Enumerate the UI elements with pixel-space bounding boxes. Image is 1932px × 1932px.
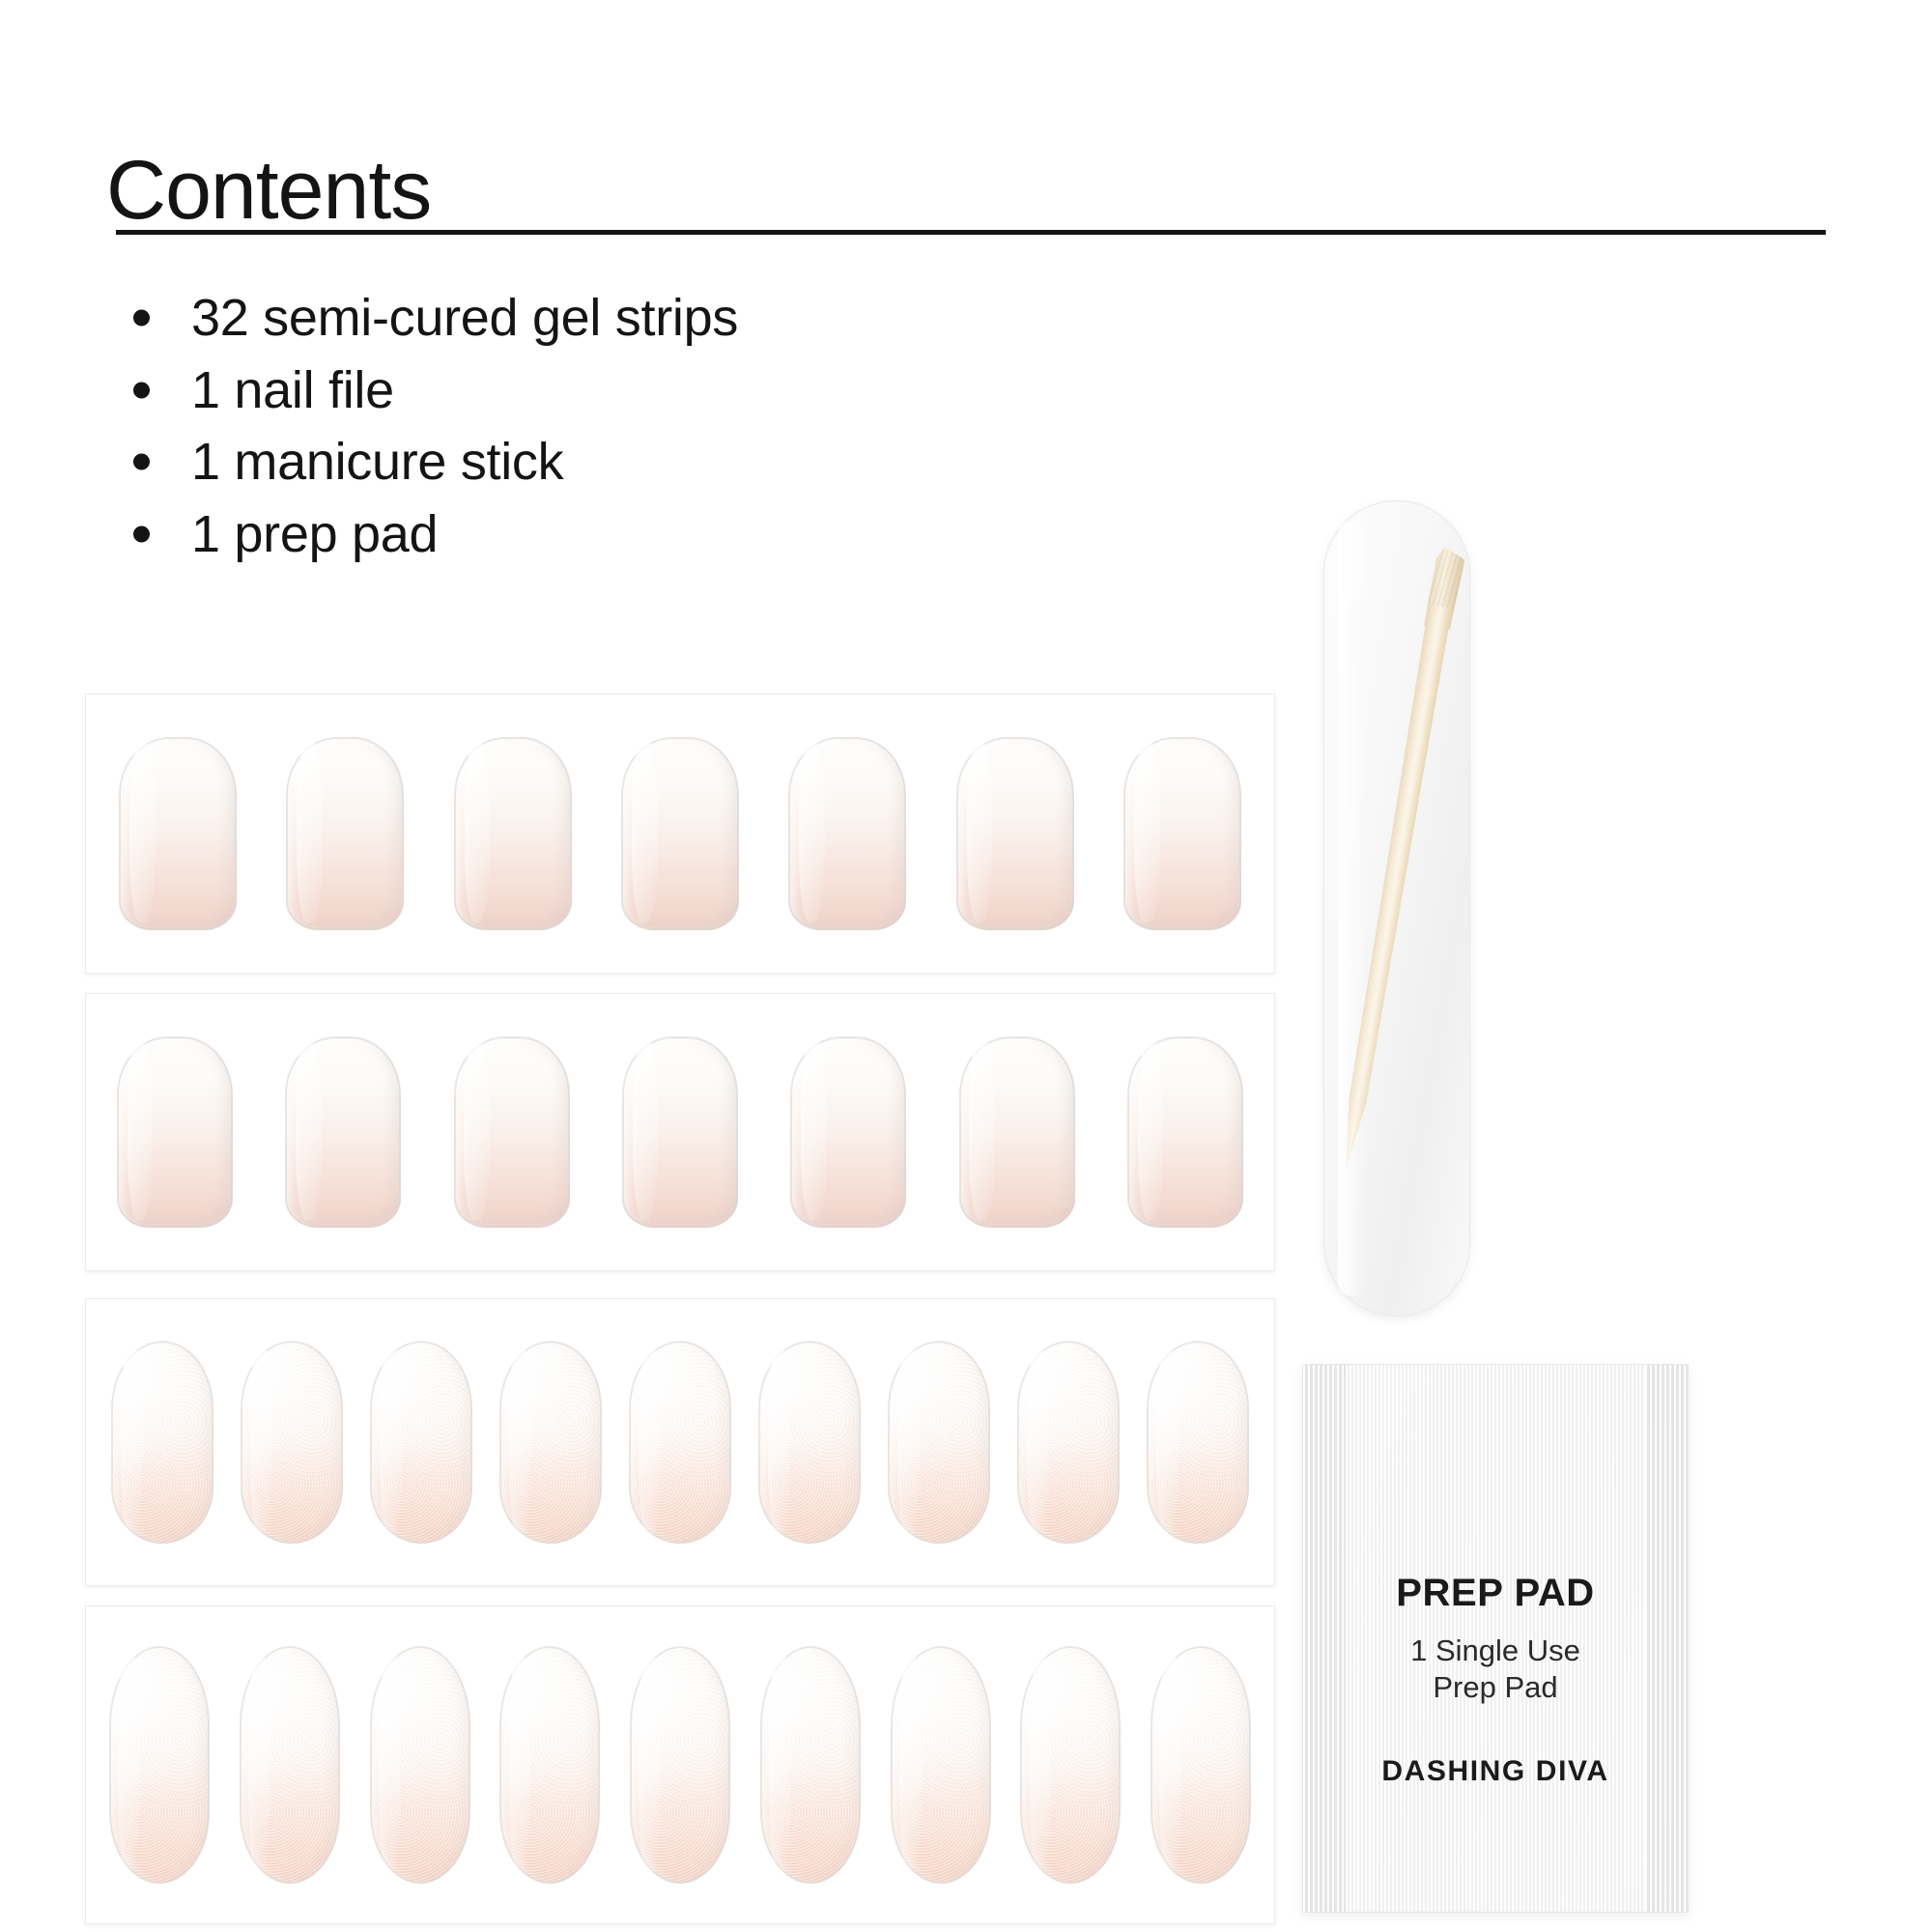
gel-nail-strip: [1147, 1341, 1249, 1544]
nail-highlight: [129, 741, 156, 923]
prep-pad-subtitle-line1: 1 Single Use: [1410, 1633, 1580, 1669]
nail-highlight: [768, 1345, 790, 1535]
gel-nail-strip: [629, 1341, 731, 1544]
list-item: 1 prep pad: [116, 498, 1275, 571]
bullet-icon: [133, 310, 150, 327]
nail-edge: [956, 737, 1074, 930]
prep-pad-sachet: PREP PAD 1 Single Use Prep Pad DASHING D…: [1302, 1364, 1689, 1913]
gel-strip-sheet-3: [85, 1298, 1275, 1586]
gel-strip-sheet-1: [85, 694, 1275, 974]
gel-strip-sheet-2-inner: [86, 994, 1274, 1270]
page-title: Contents: [106, 149, 431, 232]
nail-edge: [1127, 1037, 1243, 1228]
nail-highlight: [1030, 1651, 1052, 1874]
gel-nail-strip: [454, 1037, 570, 1228]
gel-nail-strip: [241, 1341, 343, 1544]
nail-edge: [499, 1646, 600, 1884]
nail-edge: [621, 737, 739, 930]
gel-nail-strip: [758, 1341, 861, 1544]
nail-edge: [758, 1341, 861, 1544]
nail-highlight: [633, 1040, 658, 1220]
nail-edge: [891, 1646, 991, 1884]
nail-edge: [286, 737, 404, 930]
nail-edge: [959, 1037, 1075, 1228]
gel-nail-strip: [285, 1037, 401, 1228]
nail-edge: [111, 1341, 213, 1544]
gel-nail-strip: [891, 1646, 991, 1884]
nail-highlight: [897, 1345, 920, 1535]
gel-nail-strip: [117, 1037, 233, 1228]
sachet-left-seal: [1303, 1365, 1346, 1912]
gel-nail-strip: [370, 1646, 470, 1884]
gel-nail-strip: [1151, 1646, 1251, 1884]
nail-highlight: [509, 1345, 531, 1535]
nail-edge: [1123, 737, 1241, 930]
sachet-right-seal: [1645, 1365, 1688, 1912]
gel-strip-sheet-4-inner: [86, 1606, 1274, 1923]
nail-highlight: [297, 741, 323, 923]
bullet-icon: [133, 526, 150, 542]
nail-highlight: [1138, 1040, 1163, 1220]
gel-nail-strip: [760, 1646, 861, 1884]
gel-nail-strip: [499, 1646, 600, 1884]
nail-edge: [454, 1037, 570, 1228]
nail-edge: [370, 1341, 472, 1544]
nail-edge: [760, 1646, 861, 1884]
nail-edge: [109, 1646, 210, 1884]
gel-strip-sheet-4: [85, 1605, 1275, 1924]
gel-nail-strip: [499, 1341, 602, 1544]
nail-edge: [119, 737, 237, 930]
nail-edge: [499, 1341, 602, 1544]
nail-edge: [454, 737, 572, 930]
nail-highlight: [128, 1040, 153, 1220]
nail-highlight: [639, 1651, 661, 1874]
nail-highlight: [1159, 1651, 1181, 1874]
nail-edge: [1147, 1341, 1249, 1544]
gel-nail-strip: [1017, 1341, 1120, 1544]
nail-highlight: [639, 1345, 661, 1535]
gel-nail-strip: [119, 737, 237, 930]
gel-nail-strip: [286, 737, 404, 930]
nail-edge: [788, 737, 906, 930]
contents-item-label: 1 prep pad: [191, 505, 438, 563]
title-divider: [116, 230, 1826, 235]
nail-highlight: [1156, 1345, 1179, 1535]
gel-nail-strip: [240, 1646, 340, 1884]
gel-strip-sheet-1-inner: [86, 695, 1274, 973]
nail-highlight: [248, 1651, 270, 1874]
contents-item-label: 1 manicure stick: [191, 433, 563, 491]
gel-nail-strip: [630, 1646, 730, 1884]
nail-highlight: [296, 1040, 321, 1220]
brand-wordmark: DASHING DIVA: [1303, 1755, 1688, 1788]
nail-edge: [790, 1037, 906, 1228]
nail-edge: [240, 1646, 340, 1884]
nail-highlight: [509, 1651, 531, 1874]
contents-list: 32 semi-cured gel strips 1 nail file 1 m…: [116, 282, 1275, 570]
nail-edge: [117, 1037, 233, 1228]
list-item: 1 nail file: [116, 355, 1275, 427]
gel-nail-strip: [1123, 737, 1241, 930]
nail-highlight: [380, 1345, 402, 1535]
prep-pad-subtitle-line2: Prep Pad: [1410, 1669, 1580, 1706]
nail-edge: [241, 1341, 343, 1544]
gel-nail-strip: [622, 1037, 738, 1228]
gel-nail-strip: [1020, 1646, 1121, 1884]
nail-edge: [370, 1646, 470, 1884]
nail-highlight: [464, 1040, 489, 1220]
contents-item-label: 32 semi-cured gel strips: [191, 289, 738, 347]
nail-highlight: [250, 1345, 272, 1535]
nail-highlight: [799, 741, 825, 923]
nail-edge: [1017, 1341, 1120, 1544]
gel-nail-strip: [370, 1341, 472, 1544]
prep-pad-subtitle: 1 Single Use Prep Pad: [1410, 1633, 1580, 1707]
list-item: 32 semi-cured gel strips: [116, 282, 1275, 355]
nail-highlight: [379, 1651, 401, 1874]
gel-nail-strip: [956, 737, 1074, 930]
nail-highlight: [1027, 1345, 1049, 1535]
nail-highlight: [969, 1040, 994, 1220]
nail-highlight: [118, 1651, 140, 1874]
nail-highlight: [121, 1345, 143, 1535]
gel-nail-strip: [111, 1341, 213, 1544]
nail-highlight: [899, 1651, 922, 1874]
prep-pad-title: PREP PAD: [1396, 1572, 1595, 1615]
list-item: 1 manicure stick: [116, 426, 1275, 498]
nail-highlight: [1134, 741, 1160, 923]
nail-highlight: [769, 1651, 791, 1874]
nail-highlight: [465, 741, 491, 923]
contents-item-label: 1 nail file: [191, 361, 394, 419]
nail-edge: [1151, 1646, 1251, 1884]
gel-nail-strip: [109, 1646, 210, 1884]
bullet-icon: [133, 382, 150, 398]
nail-highlight: [967, 741, 993, 923]
gel-nail-strip: [959, 1037, 1075, 1228]
gel-nail-strip: [788, 737, 906, 930]
nail-edge: [622, 1037, 738, 1228]
gel-nail-strip: [888, 1341, 990, 1544]
gel-strip-sheet-2: [85, 993, 1275, 1271]
nail-edge: [285, 1037, 401, 1228]
nail-edge: [629, 1341, 731, 1544]
gel-nail-strip: [621, 737, 739, 930]
nail-edge: [888, 1341, 990, 1544]
gel-nail-strip: [454, 737, 572, 930]
nail-highlight: [632, 741, 658, 923]
nail-highlight: [801, 1040, 826, 1220]
bullet-icon: [133, 454, 150, 470]
gel-nail-strip: [1127, 1037, 1243, 1228]
nail-edge: [630, 1646, 730, 1884]
nail-edge: [1020, 1646, 1121, 1884]
gel-strip-sheet-3-inner: [86, 1299, 1274, 1585]
gel-nail-strip: [790, 1037, 906, 1228]
